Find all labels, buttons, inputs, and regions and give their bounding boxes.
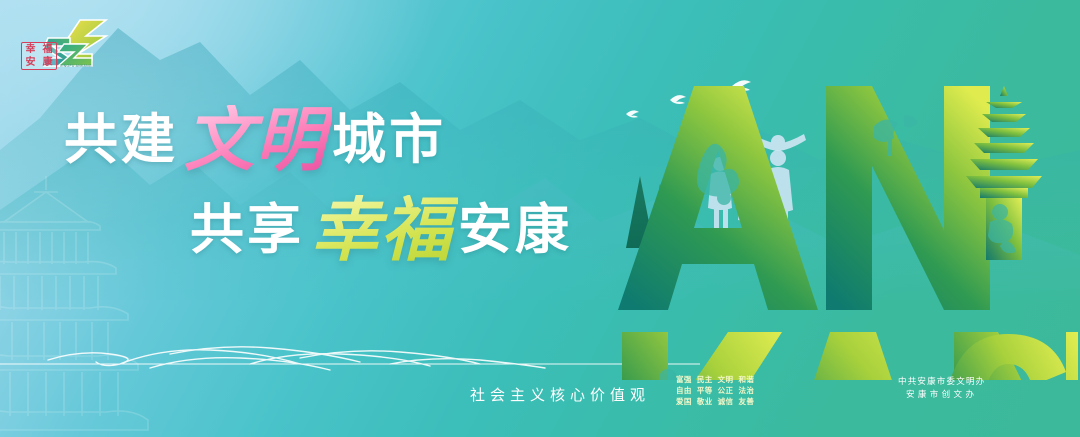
headline-block: 共建 文明 城市 共享 幸福 安康: [60, 105, 620, 265]
poster-canvas: 幸 福 安 康 XINGFU ANKANG 共建 文明 城市 共享 幸福 安康: [0, 0, 1080, 437]
core-values-grid: 富强 民主 文明 和谐 自由 平等 公正 法治 爱国 敬业 诚信 友善: [676, 374, 754, 407]
core-value: 平等: [697, 385, 713, 396]
logo-seal: 幸 福 安 康: [21, 42, 57, 70]
core-value: 法治: [738, 385, 754, 396]
seal-char-1: 幸: [22, 43, 39, 56]
core-value: 诚信: [718, 396, 734, 407]
org-line-2: 安康市创文办: [898, 389, 985, 402]
footer-bar: 社会主义核心价值观 富强 民主 文明 和谐 自由 平等 公正 法治 爱国 敬业 …: [0, 372, 1080, 437]
core-value: 公正: [718, 385, 734, 396]
seal-char-3: 安: [22, 56, 39, 69]
logo-subtext: XINGFU ANKANG: [60, 64, 92, 68]
headline-2-suffix: 安康: [458, 203, 572, 257]
core-values-title: 社会主义核心价值观: [470, 384, 650, 405]
core-value: 自由: [676, 385, 692, 396]
ankang-typography-graphic: [608, 80, 1078, 380]
headline-1-prefix: 共建: [64, 113, 178, 167]
core-value: 友善: [738, 396, 754, 407]
org-line-1: 中共安康市委文明办: [898, 376, 985, 389]
seal-char-2: 福: [39, 43, 56, 56]
brand-logo[interactable]: 幸 福 安 康 XINGFU ANKANG: [18, 14, 118, 78]
headline-1-suffix: 城市: [332, 113, 446, 167]
headline-line-2: 共享 幸福 安康: [190, 195, 620, 265]
core-value: 文明: [718, 374, 734, 385]
core-value: 和谐: [738, 374, 754, 385]
core-value: 爱国: [676, 396, 692, 407]
headline-2-prefix: 共享: [190, 203, 304, 257]
letters-AN: [618, 86, 990, 310]
core-value: 民主: [697, 374, 713, 385]
headline-line-1: 共建 文明 城市: [64, 105, 620, 175]
headline-2-highlight: 幸福: [304, 195, 458, 265]
core-value: 富强: [676, 374, 692, 385]
issuing-organizations: 中共安康市委文明办 安康市创文办: [898, 376, 985, 402]
seal-char-4: 康: [39, 56, 56, 69]
headline-1-highlight: 文明: [178, 105, 332, 175]
core-value: 敬业: [697, 396, 713, 407]
